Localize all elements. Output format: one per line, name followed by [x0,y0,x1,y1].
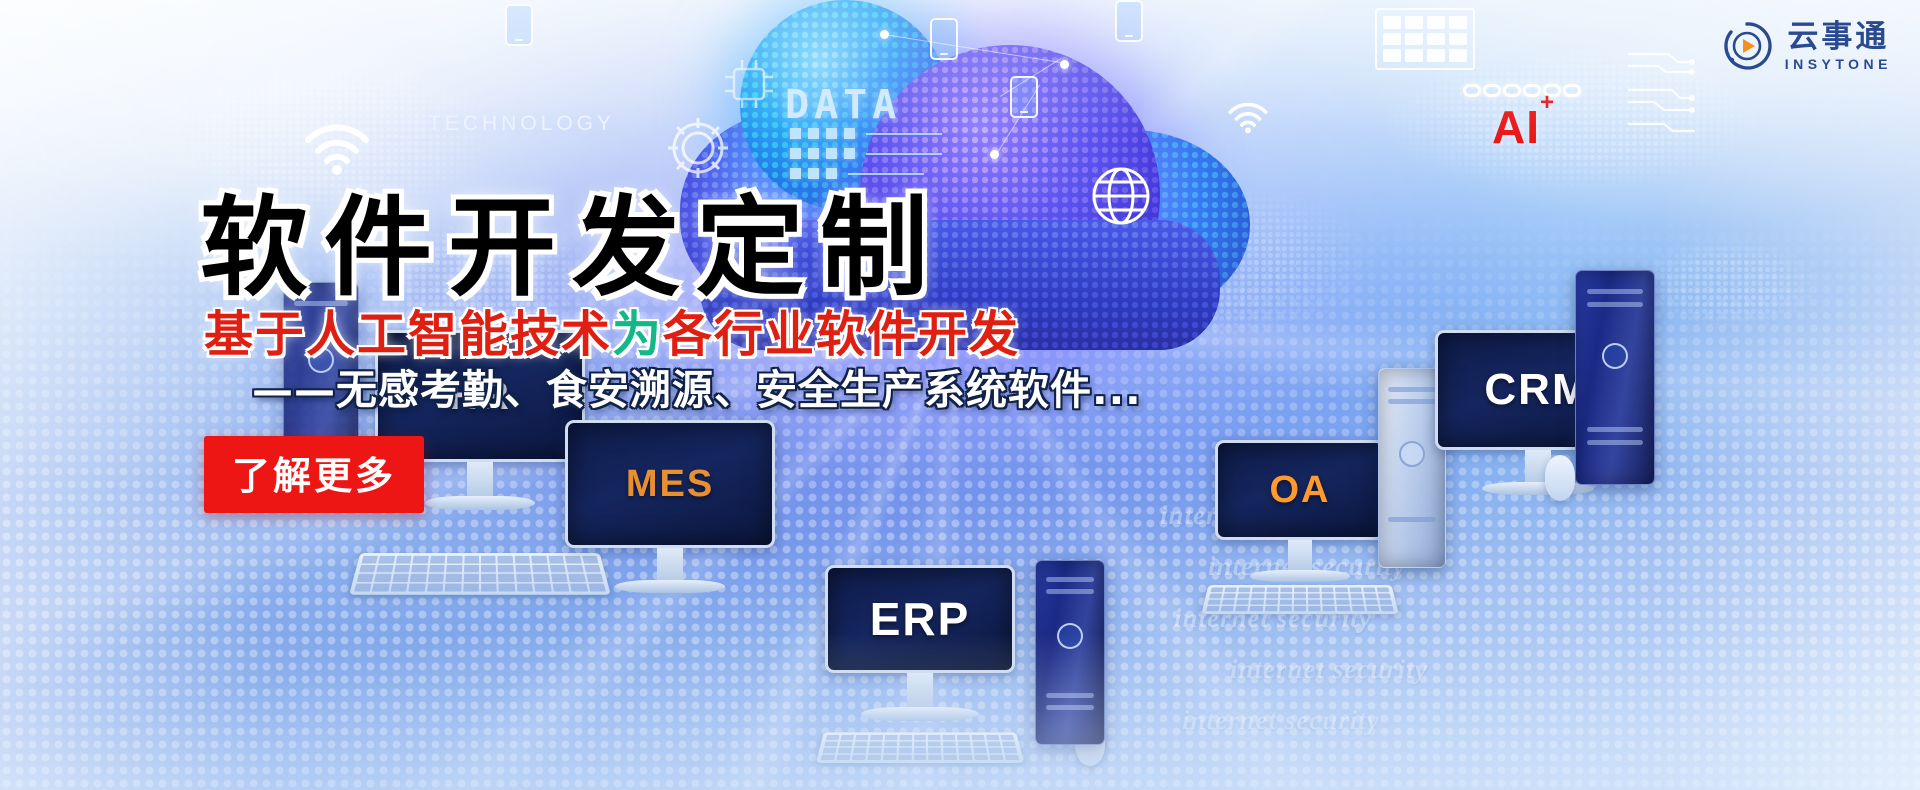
mouse-crm [1545,455,1575,501]
subheadline-part-3: 各行业软件开发 [663,306,1020,363]
logo-mark-icon [1721,20,1773,72]
subheadline: 基于人工智能技术为各行业软件开发 [204,309,1210,360]
brand-logo[interactable]: 云事通 INSYTONE [1721,20,1892,72]
monitor-oa: OA [1215,440,1385,582]
tagline: ——无感考勤、食安溯源、安全生产系统软件... [252,368,1210,413]
blockchain-chain-icon [1463,84,1581,97]
pc-tower-crm [1575,270,1655,485]
keyboard-oa [1201,585,1398,614]
phone-node-icon [505,4,533,46]
phone-node-icon [1115,0,1143,42]
monitor-erp: ERP [825,565,1015,721]
headline: 软件开发定制 [200,195,1210,303]
phone-node-icon [930,18,958,60]
gear-icon [665,115,731,181]
wifi-icon-small [1225,100,1271,134]
logo-cn-name: 云事通 [1787,22,1889,53]
ai-plus-label: AI+ [1492,100,1555,154]
security-watermark-line: internet security [1230,644,1920,695]
hero-banner: DATA TECHNOLOGY AI+ [0,0,1920,790]
ai-superscript: + [1540,89,1555,116]
monitor-label-erp: ERP [870,592,971,646]
learn-more-button[interactable]: 了解更多 [204,436,424,513]
phone-node-icon [1010,76,1038,118]
server-rack-icon [1375,8,1475,70]
monitor-label-oa: OA [1270,469,1331,512]
technology-label: TECHNOLOGY [428,112,615,136]
ai-text: AI [1492,101,1540,153]
logo-wordmark: 云事通 INSYTONE [1785,22,1892,71]
keyboard-erp [816,732,1024,763]
data-label: DATA [785,82,901,128]
chip-hexagon-icon [720,55,778,113]
wifi-icon [300,120,374,176]
logo-en-name: INSYTONE [1785,57,1892,71]
data-bar-graphic [790,128,942,188]
pc-tower-erp [1035,560,1105,745]
subheadline-part-1: 基于人工智能技术 [204,306,612,363]
subheadline-highlight: 为 [612,306,663,363]
security-watermark-line: internet security [1182,695,1920,746]
hero-copy-block: 软件开发定制 基于人工智能技术为各行业软件开发 ——无感考勤、食安溯源、安全生产… [200,195,1210,513]
circuit-board-icon [1622,44,1700,136]
